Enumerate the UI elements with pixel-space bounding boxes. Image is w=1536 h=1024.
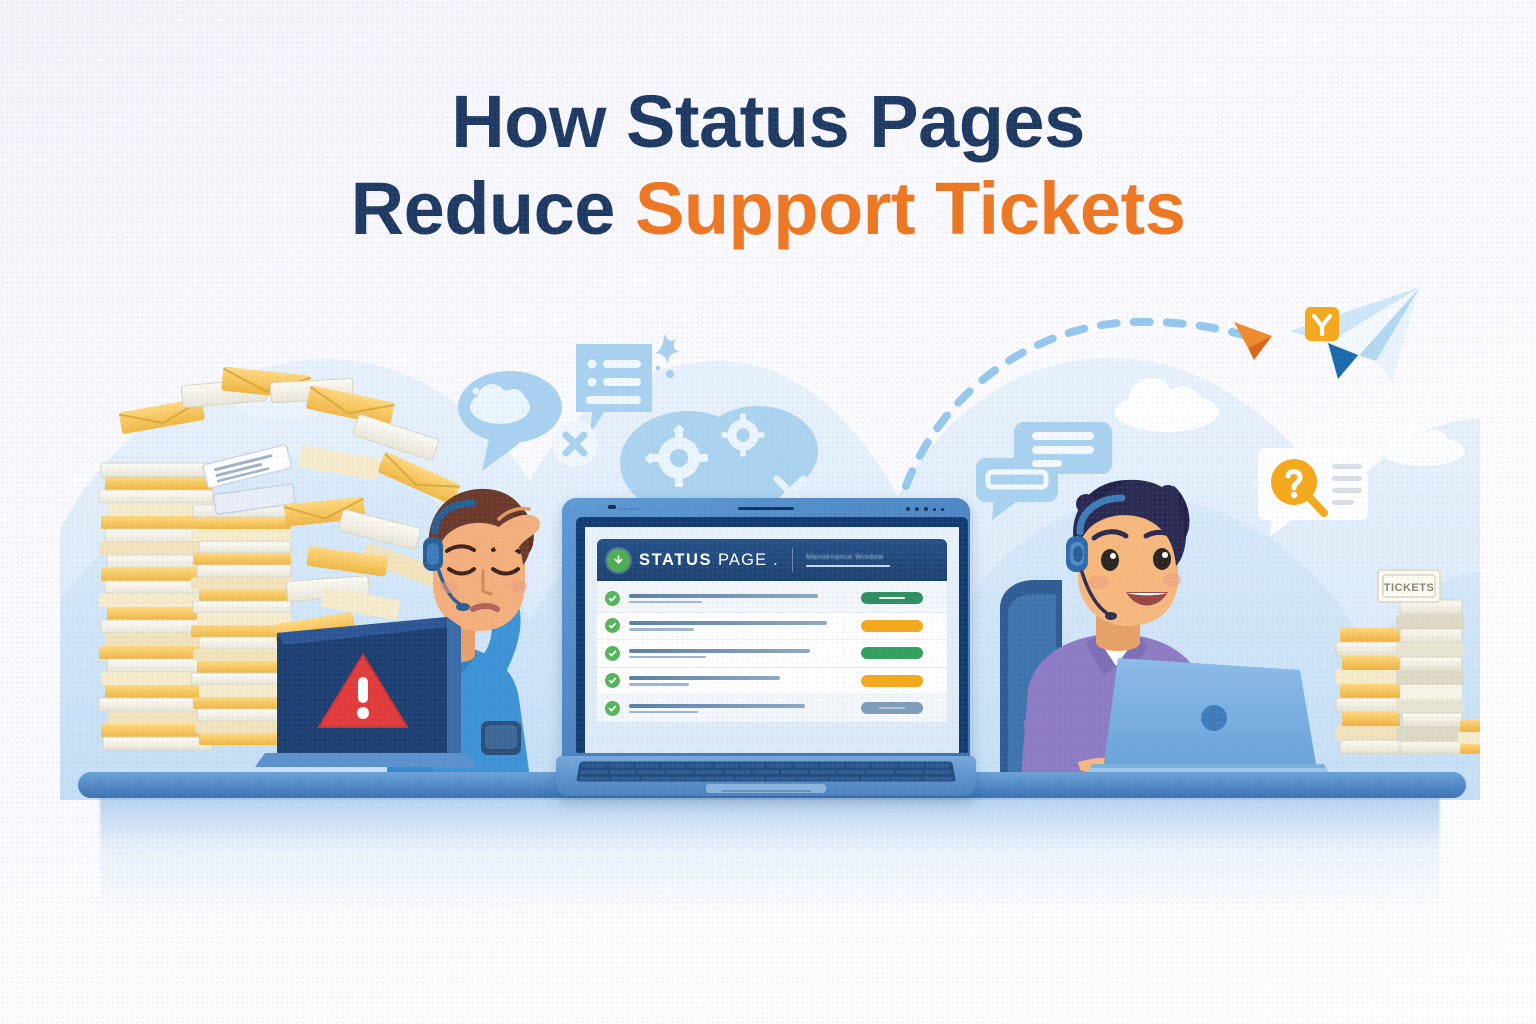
illustration-canvas: TICKETS — [0, 0, 1536, 1024]
status-badge — [861, 592, 923, 604]
status-badge — [861, 620, 923, 632]
status-badge — [861, 647, 923, 659]
row-title-bar — [629, 649, 810, 653]
check-circle-icon — [605, 591, 620, 606]
status-page-header-note: Maintenance Window — [806, 554, 890, 561]
table-row[interactable] — [597, 585, 947, 613]
row-status-cell — [844, 620, 939, 632]
row-subtitle-bar — [629, 711, 698, 714]
row-status-cell — [844, 647, 939, 659]
row-text-bars — [629, 649, 844, 659]
tickets-stack-label: TICKETS — [1384, 582, 1435, 594]
status-page-app: STATUS PAGE . Maintenance Window — [597, 539, 947, 753]
title-line-1: How Status Pages — [0, 78, 1536, 165]
row-text-bars — [629, 704, 844, 714]
laptop-lip — [721, 790, 811, 792]
row-status-cell — [844, 702, 939, 714]
status-page-header: STATUS PAGE . Maintenance Window — [597, 539, 947, 581]
row-title-bar — [629, 704, 805, 708]
check-circle-icon — [605, 673, 620, 688]
header-note-underline — [806, 565, 890, 567]
check-circle-icon — [605, 646, 620, 661]
status-page-rows — [597, 581, 947, 722]
left-scene-overwhelmed-agent — [95, 355, 555, 785]
laptop-keyboard[interactable] — [576, 762, 956, 782]
row-title-bar — [629, 621, 827, 625]
status-page-title-light: PAGE . — [712, 551, 779, 569]
row-subtitle-bar — [629, 656, 706, 659]
row-subtitle-bar — [629, 683, 689, 686]
laptop-bezel: STATUS PAGE . Maintenance Window — [576, 517, 968, 753]
camera-bar — [619, 508, 641, 510]
row-text-bars — [629, 621, 844, 631]
row-title-bar — [629, 594, 818, 598]
row-text-bars — [629, 594, 844, 604]
row-text-bars — [629, 676, 844, 686]
title-line-2: Reduce Support Tickets — [0, 165, 1536, 252]
camera-dot — [608, 505, 616, 509]
table-row[interactable] — [597, 695, 947, 722]
status-page-title-bold: STATUS — [639, 551, 712, 569]
central-laptop: STATUS PAGE . Maintenance Window — [556, 498, 976, 823]
header-divider — [792, 548, 793, 572]
page-title: How Status Pages Reduce Support Tickets — [0, 78, 1536, 253]
check-circle-icon — [605, 701, 620, 716]
table-row[interactable] — [597, 668, 947, 696]
status-badge — [861, 702, 923, 714]
row-subtitle-bar — [629, 628, 694, 631]
status-badge — [861, 675, 923, 687]
hinge-bar — [738, 507, 794, 510]
x-circle-icon — [548, 417, 602, 471]
laptop-lid: STATUS PAGE . Maintenance Window — [562, 498, 970, 760]
row-status-cell — [844, 675, 939, 687]
bezel-dots — [906, 507, 944, 511]
laptop-screen: STATUS PAGE . Maintenance Window — [585, 527, 959, 753]
title-line-2-accent: Support Tickets — [635, 167, 1185, 250]
row-title-bar — [629, 676, 780, 680]
row-status-cell — [844, 592, 939, 604]
paper-plane-icon — [1272, 283, 1424, 395]
row-subtitle-bar — [629, 601, 702, 604]
plane-badge — [1303, 305, 1341, 343]
download-arrow-icon — [607, 549, 630, 572]
laptop-base — [556, 756, 976, 796]
status-page-title: STATUS PAGE . — [639, 551, 779, 570]
table-row[interactable] — [597, 640, 947, 668]
check-circle-icon — [605, 618, 620, 633]
sparkle-icon — [648, 330, 688, 386]
status-page-header-note-group: Maintenance Window — [806, 554, 890, 567]
table-row[interactable] — [597, 613, 947, 641]
right-scene-happy-agent: TICKETS — [1000, 420, 1480, 790]
title-line-2-prefix: Reduce — [351, 167, 635, 250]
